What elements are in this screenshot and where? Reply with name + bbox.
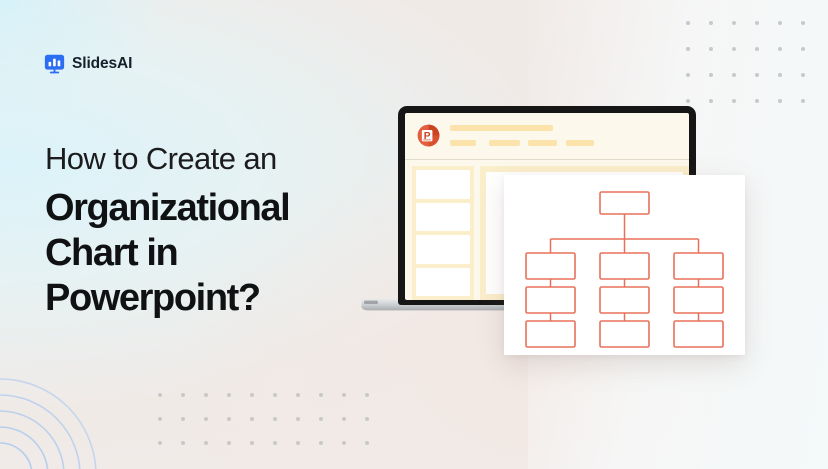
dot xyxy=(801,73,805,77)
dot xyxy=(296,417,300,421)
org-node-root xyxy=(600,192,649,214)
dot xyxy=(686,47,690,51)
toolbar-menu-item-2[interactable] xyxy=(489,140,520,146)
organizational-chart-card xyxy=(504,175,745,355)
presentation-chart-icon xyxy=(44,53,65,74)
org-node-3-3 xyxy=(674,321,723,347)
dot xyxy=(686,73,690,77)
dot xyxy=(181,393,185,397)
dot xyxy=(801,47,805,51)
org-node-1-2 xyxy=(526,287,575,313)
slide-thumbnail-1[interactable] xyxy=(416,170,470,199)
dot xyxy=(709,21,713,25)
slide-canvas: SlidesAI How to Create an Organizational… xyxy=(0,0,828,469)
dot xyxy=(296,441,300,445)
dot-grid-top-right xyxy=(676,10,814,114)
dot xyxy=(273,417,277,421)
slide-thumbnail-rail[interactable] xyxy=(412,166,474,300)
toolbar-menu-item-4[interactable] xyxy=(566,140,594,146)
dot xyxy=(732,99,736,103)
dot xyxy=(778,73,782,77)
dot xyxy=(365,393,369,397)
organizational-chart-diagram xyxy=(504,175,745,355)
title-line-1: How to Create an xyxy=(45,143,375,174)
dot xyxy=(365,441,369,445)
page-title: How to Create an Organizational Chart in… xyxy=(45,143,375,320)
dot xyxy=(755,73,759,77)
slide-thumbnail-2[interactable] xyxy=(416,203,470,232)
dot xyxy=(158,441,162,445)
dot xyxy=(250,441,254,445)
dot xyxy=(319,393,323,397)
org-node-1-1 xyxy=(526,253,575,279)
org-node-2-1 xyxy=(600,253,649,279)
dot xyxy=(342,393,346,397)
dot xyxy=(181,417,185,421)
powerpoint-toolbar: P xyxy=(405,113,689,160)
dot xyxy=(181,441,185,445)
dot xyxy=(342,417,346,421)
toolbar-menu-item-3[interactable] xyxy=(528,140,557,146)
brand-name: SlidesAI xyxy=(72,56,132,72)
dot xyxy=(365,417,369,421)
dot xyxy=(755,47,759,51)
dot xyxy=(227,393,231,397)
slide-thumbnail-4[interactable] xyxy=(416,268,470,297)
dot xyxy=(319,441,323,445)
dot xyxy=(732,73,736,77)
dot xyxy=(778,99,782,103)
dot xyxy=(778,47,782,51)
dot xyxy=(158,417,162,421)
org-node-2-3 xyxy=(600,321,649,347)
dot xyxy=(227,417,231,421)
org-node-3-2 xyxy=(674,287,723,313)
dot xyxy=(755,21,759,25)
corner-arcs xyxy=(0,315,160,469)
dot xyxy=(709,47,713,51)
dot xyxy=(319,417,323,421)
slide-thumbnail-3[interactable] xyxy=(416,235,470,264)
toolbar-title-bar xyxy=(450,125,553,131)
dot xyxy=(227,441,231,445)
dot-grid-bottom xyxy=(148,383,378,455)
dot xyxy=(801,21,805,25)
org-node-1-3 xyxy=(526,321,575,347)
dot xyxy=(273,441,277,445)
dot xyxy=(709,73,713,77)
dot xyxy=(686,21,690,25)
dot xyxy=(732,21,736,25)
brand-logo[interactable]: SlidesAI xyxy=(44,53,132,74)
dot xyxy=(158,393,162,397)
powerpoint-icon: P xyxy=(416,123,441,148)
dot xyxy=(204,393,208,397)
dot xyxy=(204,441,208,445)
dot xyxy=(732,47,736,51)
dot xyxy=(204,417,208,421)
dot xyxy=(778,21,782,25)
dot xyxy=(273,393,277,397)
title-line-4: Powerpoint? xyxy=(45,276,375,321)
dot xyxy=(250,393,254,397)
title-line-3: Chart in xyxy=(45,231,375,276)
dot xyxy=(709,99,713,103)
org-node-2-2 xyxy=(600,287,649,313)
dot xyxy=(342,441,346,445)
toolbar-menu-item-1[interactable] xyxy=(450,140,476,146)
dot xyxy=(755,99,759,103)
dot xyxy=(250,417,254,421)
dot xyxy=(801,99,805,103)
dot xyxy=(296,393,300,397)
title-line-2: Organizational xyxy=(45,186,375,231)
dot xyxy=(686,99,690,103)
org-node-3-1 xyxy=(674,253,723,279)
